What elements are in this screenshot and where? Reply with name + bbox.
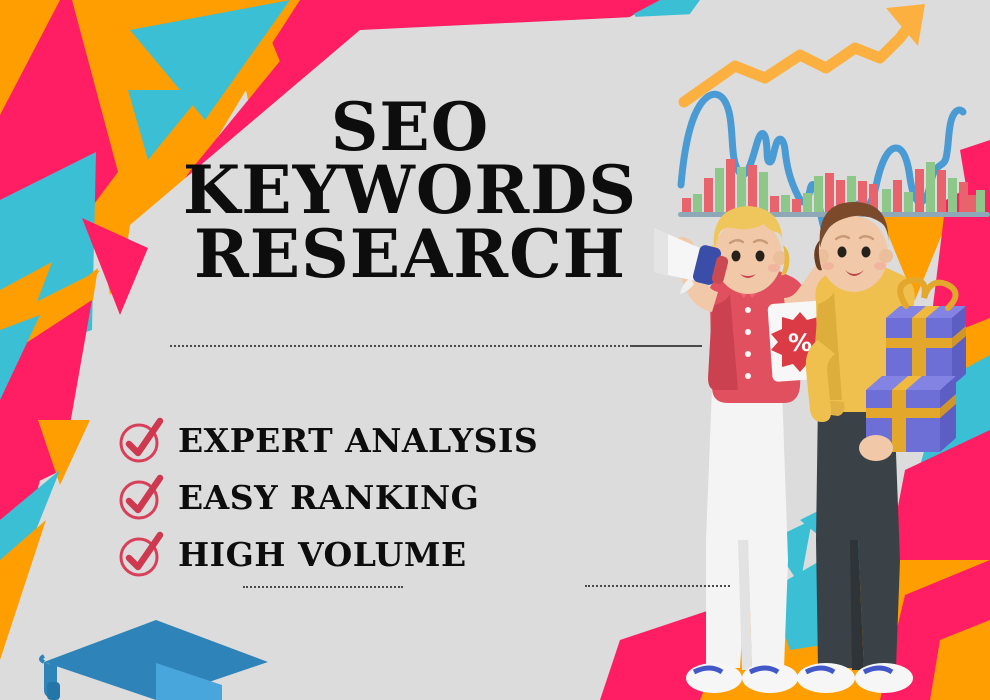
title-line-2: KEYWORDS xyxy=(150,159,670,222)
check-circle-icon xyxy=(118,418,164,464)
decorative-dotted-line-mid xyxy=(632,345,702,347)
title-divider-dotted xyxy=(170,345,700,347)
decorative-dotted-line-right xyxy=(585,585,730,587)
list-item: EXPERT ANALYSIS xyxy=(118,412,638,469)
seo-keywords-banner: % xyxy=(0,0,990,700)
feature-label: EXPERT ANALYSIS xyxy=(178,421,538,460)
list-item: HIGH VOLUME xyxy=(118,526,638,583)
decorative-dotted-line-left xyxy=(243,586,403,588)
page-title: SEO KEYWORDS RESEARCH xyxy=(150,96,670,286)
feature-label: HIGH VOLUME xyxy=(178,535,467,574)
feature-list: EXPERT ANALYSIS EASY RANKING xyxy=(118,412,638,583)
list-item: EASY RANKING xyxy=(118,469,638,526)
check-circle-icon xyxy=(118,475,164,521)
title-line-1: SEO xyxy=(150,96,670,159)
title-line-3: RESEARCH xyxy=(150,223,670,286)
check-circle-icon xyxy=(118,532,164,578)
feature-label: EASY RANKING xyxy=(178,478,479,517)
